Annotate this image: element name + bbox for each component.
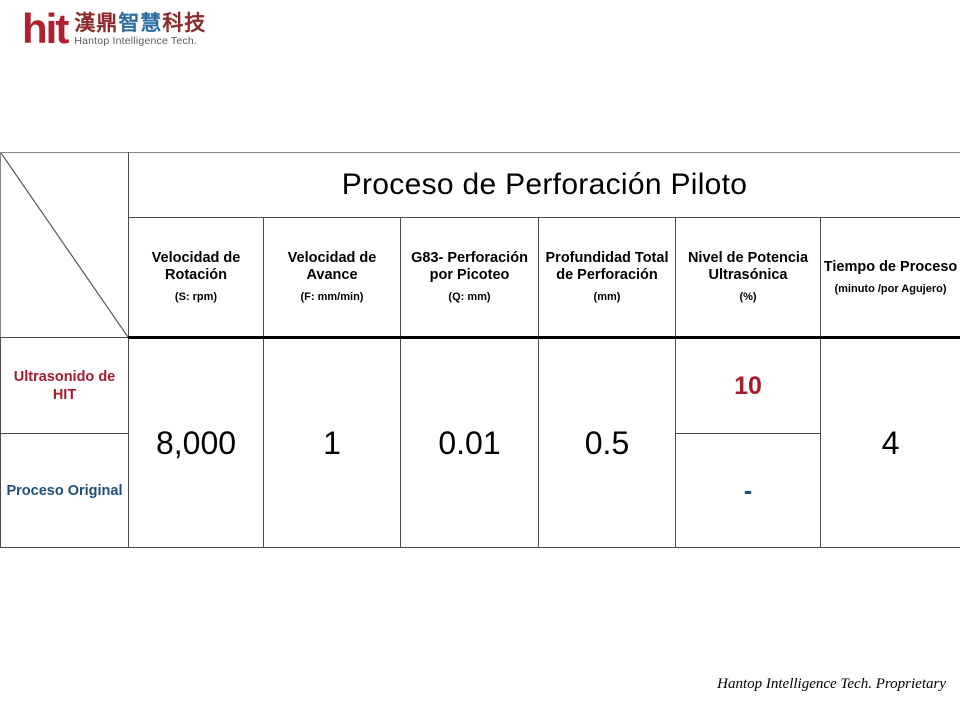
column-header-feed-speed-unit: (F: mm/min) — [266, 291, 398, 304]
column-header-process-time: Tiempo de Proceso (minuto /por Agujero) — [821, 218, 960, 338]
logo-english-name: Hantop Intelligence Tech. — [74, 35, 206, 48]
column-header-total-depth-label: Profundidad Total de Perforación — [546, 250, 669, 283]
value-feed-speed: 1 — [264, 338, 401, 548]
logo-cn-part1: 漢鼎 — [74, 11, 118, 35]
column-header-total-depth-unit: (mm) — [541, 291, 673, 304]
table-row: Ultrasonido de HIT 8,000 1 0.01 0.5 10 4 — [1, 338, 960, 434]
column-header-rotation-speed-label: Velocidad de Rotación — [152, 250, 241, 283]
value-ultrasonic-power-original: - — [676, 434, 821, 548]
table-header-row: Velocidad de Rotación (S: rpm) Velocidad… — [1, 218, 960, 338]
column-header-rotation-speed-unit: (S: rpm) — [131, 291, 261, 304]
column-header-peck-drilling-unit: (Q: mm) — [403, 291, 536, 304]
value-rotation-speed: 8,000 — [129, 338, 264, 548]
value-peck-drilling: 0.01 — [401, 338, 539, 548]
column-header-feed-speed: Velocidad de Avance (F: mm/min) — [264, 218, 401, 338]
column-header-process-time-unit: (minuto /por Agujero) — [823, 283, 958, 296]
value-process-time: 4 — [821, 338, 960, 548]
row-label-original-process: Proceso Original — [1, 434, 129, 548]
row-label-hit-ultrasound: Ultrasonido de HIT — [1, 338, 129, 434]
column-header-ultrasonic-power-label: Nivel de Potencia Ultrasónica — [688, 250, 808, 283]
column-header-process-time-label: Tiempo de Proceso — [824, 259, 958, 275]
column-header-feed-speed-label: Velocidad de Avance — [288, 250, 377, 283]
column-header-peck-drilling: G83- Perforación por Picoteo (Q: mm) — [401, 218, 539, 338]
logo-chinese-name: 漢鼎智慧科技 — [74, 12, 206, 35]
column-header-total-depth: Profundidad Total de Perforación (mm) — [539, 218, 676, 338]
logo-cn-part3: 科技 — [162, 11, 206, 35]
column-header-peck-drilling-label: G83- Perforación por Picoteo — [411, 250, 528, 283]
column-header-rotation-speed: Velocidad de Rotación (S: rpm) — [129, 218, 264, 338]
drilling-process-spec-table: Proceso de Perforación Piloto Velocidad … — [0, 152, 960, 548]
column-header-ultrasonic-power: Nivel de Potencia Ultrasónica (%) — [676, 218, 821, 338]
value-total-depth: 0.5 — [539, 338, 676, 548]
diagonal-line-icon — [1, 153, 128, 337]
footer-proprietary-notice: Hantop Intelligence Tech. Proprietary — [717, 676, 946, 693]
logo-text-block: 漢鼎智慧科技 Hantop Intelligence Tech. — [74, 12, 206, 48]
logo-wordmark: hit — [22, 9, 67, 49]
table-title-row: Proceso de Perforación Piloto — [1, 153, 960, 218]
company-logo: hit 漢鼎智慧科技 Hantop Intelligence Tech. — [22, 9, 206, 49]
corner-diagonal-cell — [1, 153, 129, 338]
logo-cn-part2: 智慧 — [118, 11, 162, 35]
table-title: Proceso de Perforación Piloto — [129, 153, 960, 218]
value-ultrasonic-power-hit: 10 — [676, 338, 821, 434]
column-header-ultrasonic-power-unit: (%) — [678, 291, 818, 304]
